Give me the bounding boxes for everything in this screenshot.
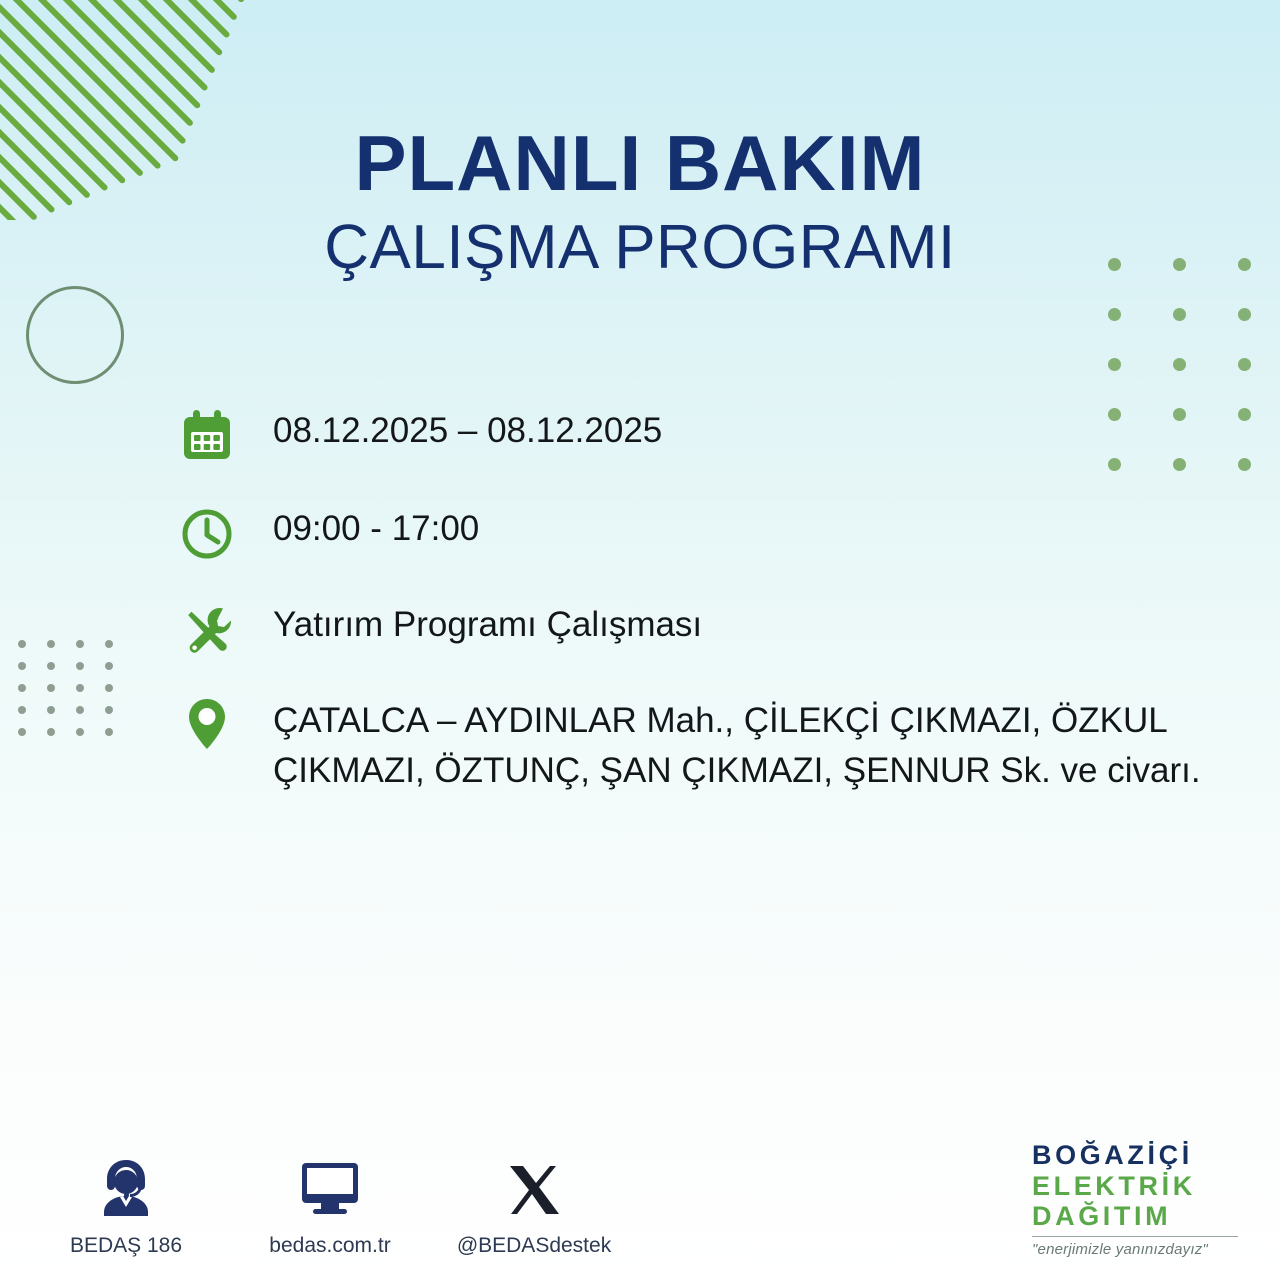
headset-support-icon [91, 1148, 161, 1222]
detail-row-address: ÇATALCA – AYDINLAR Mah., ÇİLEKÇİ ÇIKMAZI… [175, 692, 1265, 795]
circle-outline-decoration [26, 286, 124, 384]
date-range-text: 08.12.2025 – 08.12.2025 [239, 404, 662, 454]
footer: BEDAŞ 186 bedas.com.tr [0, 1110, 1280, 1280]
contact-list: BEDAŞ 186 bedas.com.tr [52, 1148, 608, 1258]
page-subtitle: ÇALIŞMA PROGRAMI [0, 212, 1280, 283]
contact-item-phone[interactable]: BEDAŞ 186 [52, 1148, 200, 1258]
monitor-icon [295, 1148, 365, 1222]
address-text: ÇATALCA – AYDINLAR Mah., ÇİLEKÇİ ÇIKMAZI… [239, 692, 1265, 795]
work-type-text: Yatırım Programı Çalışması [239, 598, 702, 648]
tools-icon [175, 598, 239, 662]
time-range-text: 09:00 - 17:00 [239, 502, 479, 552]
brand-line-bogazici: BOĞAZİÇİ [1032, 1140, 1246, 1170]
location-pin-icon [175, 692, 239, 756]
detail-row-date: 08.12.2025 – 08.12.2025 [175, 404, 1265, 468]
brand-line-dagitim: DAĞITIM [1032, 1201, 1246, 1231]
dot-grid-decoration-left [18, 640, 134, 750]
contact-label-x: @BEDASdestek [457, 1234, 611, 1258]
contact-item-website[interactable]: bedas.com.tr [256, 1148, 404, 1258]
brand-divider [1032, 1236, 1238, 1237]
planned-maintenance-poster: PLANLI BAKIM ÇALIŞMA PROGRAMI [0, 0, 1280, 1280]
contact-item-x[interactable]: @BEDASdestek [460, 1148, 608, 1258]
detail-row-work-type: Yatırım Programı Çalışması [175, 598, 1265, 662]
brand-logo: BOĞAZİÇİ ELEKTRİK DAĞITIM "enerjimizle y… [1032, 1140, 1246, 1258]
brand-tagline: "enerjimizle yanınızdayız" [1032, 1241, 1246, 1258]
x-social-icon [502, 1148, 566, 1222]
brand-line-elektrik: ELEKTRİK [1032, 1171, 1246, 1201]
diagonal-stripes-decoration [0, 0, 280, 220]
calendar-icon [175, 404, 239, 468]
contact-label-phone: BEDAŞ 186 [70, 1234, 182, 1258]
contact-label-website: bedas.com.tr [269, 1234, 390, 1258]
maintenance-details: 08.12.2025 – 08.12.2025 09:00 - 17:00 [175, 404, 1265, 821]
detail-row-time: 09:00 - 17:00 [175, 502, 1265, 566]
clock-icon [175, 502, 239, 566]
